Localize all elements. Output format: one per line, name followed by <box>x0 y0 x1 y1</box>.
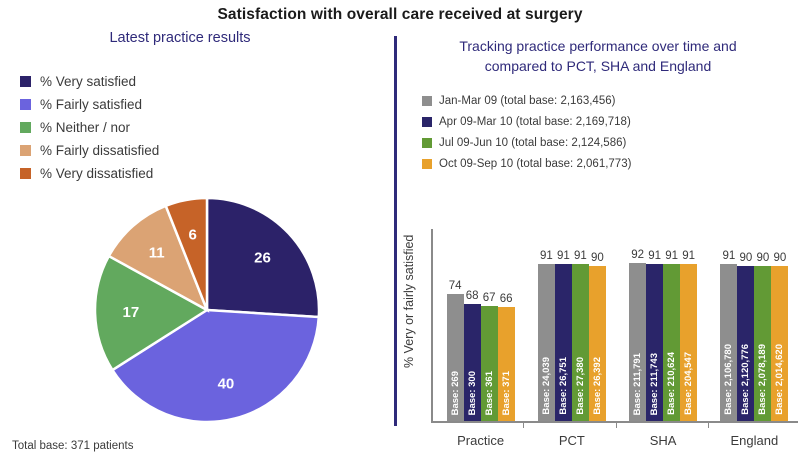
category-label: PCT <box>526 433 617 448</box>
bar-base-label: Base: 2,106,780 <box>723 344 734 415</box>
legend-swatch-icon <box>20 99 31 110</box>
bar-base-label: Base: 210,624 <box>666 352 677 415</box>
bar-column: Base: 204,54791 <box>680 201 697 421</box>
bar: Base: 300 <box>464 304 481 421</box>
bar-legend-item: Oct 09-Sep 10 (total base: 2,061,773) <box>422 153 631 174</box>
bar-base-label: Base: 204,547 <box>683 352 694 415</box>
bar-base-label: Base: 269 <box>450 371 461 415</box>
bar-base-label: Base: 27,380 <box>575 357 586 415</box>
slide-root: Satisfaction with overall care received … <box>0 0 800 436</box>
bar-value-label: 91 <box>663 250 680 262</box>
bar: Base: 371 <box>498 307 515 421</box>
bar-chart-ylabel: % Very or fairly satisfied <box>402 201 424 401</box>
bar-chart-plot: Base: 26974Base: 30068Base: 36167Base: 3… <box>431 201 800 423</box>
pie-legend-item: % Very satisfied <box>20 70 159 93</box>
bar-column: Base: 30068 <box>464 201 481 421</box>
bar-base-label: Base: 211,791 <box>632 353 643 415</box>
legend-swatch-icon <box>422 117 432 127</box>
bar: Base: 204,547 <box>680 264 697 421</box>
bar-column: Base: 2,106,78091 <box>720 201 737 421</box>
legend-swatch-icon <box>422 96 432 106</box>
bar-value-label: 91 <box>720 250 737 262</box>
bar: Base: 27,380 <box>572 264 589 421</box>
bar-legend-item: Apr 09-Mar 10 (total base: 2,169,718) <box>422 111 631 132</box>
right-panel-title: Tracking practice performance over time … <box>408 36 788 76</box>
x-axis-tick <box>616 423 617 428</box>
legend-swatch-icon <box>20 168 31 179</box>
bar-value-label: 92 <box>629 249 646 261</box>
bar-value-label: 90 <box>754 252 771 264</box>
bar-legend-label: Apr 09-Mar 10 (total base: 2,169,718) <box>439 116 631 128</box>
bar-legend-label: Jul 09-Jun 10 (total base: 2,124,586) <box>439 137 626 149</box>
x-axis-tick <box>708 423 709 428</box>
bar: Base: 2,014,620 <box>771 266 788 421</box>
pie-legend-item: % Fairly dissatisfied <box>20 139 159 162</box>
bar-column: Base: 210,62491 <box>663 201 680 421</box>
bar-column: Base: 2,014,62090 <box>771 201 788 421</box>
bar-value-label: 91 <box>680 250 697 262</box>
pie-slice-value: 17 <box>123 304 140 321</box>
pie-slice-value: 11 <box>149 244 165 261</box>
bar: Base: 2,078,189 <box>754 266 771 421</box>
bar-legend-item: Jan-Mar 09 (total base: 2,163,456) <box>422 90 631 111</box>
pie-legend-label: % Neither / nor <box>40 120 130 135</box>
right-panel-title-line2: compared to PCT, SHA and England <box>408 56 788 76</box>
pie-slice-value: 26 <box>254 249 271 266</box>
pie-legend-item: % Fairly satisfied <box>20 93 159 116</box>
pie-legend-label: % Very satisfied <box>40 74 136 89</box>
bar-column: Base: 2,078,18990 <box>754 201 771 421</box>
bar-value-label: 90 <box>589 252 606 264</box>
bar-base-label: Base: 371 <box>501 371 512 415</box>
bar-value-label: 68 <box>464 290 481 302</box>
bar-value-label: 91 <box>646 250 663 262</box>
pie-legend-label: % Fairly satisfied <box>40 97 142 112</box>
bar-base-label: Base: 361 <box>484 371 495 415</box>
bar: Base: 2,106,780 <box>720 264 737 421</box>
right-panel-title-line1: Tracking practice performance over time … <box>408 36 788 56</box>
bar-base-label: Base: 2,014,620 <box>774 344 785 415</box>
x-axis-line <box>431 421 798 423</box>
bar-base-label: Base: 24,039 <box>541 357 552 415</box>
bar: Base: 211,743 <box>646 264 663 421</box>
pie-legend: % Very satisfied% Fairly satisfied% Neit… <box>20 70 159 185</box>
bar-column: Base: 27,38091 <box>572 201 589 421</box>
bar-legend-label: Oct 09-Sep 10 (total base: 2,061,773) <box>439 158 631 170</box>
bar-group: Base: 24,03991Base: 26,75191Base: 27,380… <box>526 201 617 421</box>
category-label: SHA <box>618 433 709 448</box>
bar-legend: Jan-Mar 09 (total base: 2,163,456)Apr 09… <box>422 90 631 174</box>
bar: Base: 2,120,776 <box>737 266 754 421</box>
legend-swatch-icon <box>422 159 432 169</box>
total-base-label: Total base: 371 patients <box>12 440 133 452</box>
bar-legend-item: Jul 09-Jun 10 (total base: 2,124,586) <box>422 132 631 153</box>
bar-base-label: Base: 26,751 <box>558 357 569 415</box>
bar-group-bars: Base: 26974Base: 30068Base: 36167Base: 3… <box>435 201 526 421</box>
bar-value-label: 90 <box>771 252 788 264</box>
bar-base-label: Base: 26,392 <box>592 357 603 415</box>
bar-column: Base: 26,39290 <box>589 201 606 421</box>
pie-chart: 264017116 <box>92 195 322 425</box>
pie-slice-value: 40 <box>218 375 235 392</box>
bar-column: Base: 37166 <box>498 201 515 421</box>
y-axis-line <box>431 229 433 423</box>
bar-groups: Base: 26974Base: 30068Base: 36167Base: 3… <box>435 201 800 421</box>
bar: Base: 211,791 <box>629 263 646 421</box>
bar-value-label: 91 <box>538 250 555 262</box>
bar-base-label: Base: 2,120,776 <box>740 344 751 415</box>
bar: Base: 210,624 <box>663 264 680 421</box>
panel-divider <box>394 36 397 426</box>
left-panel: Latest practice results % Very satisfied… <box>0 30 392 436</box>
bar-group-bars: Base: 211,79192Base: 211,74391Base: 210,… <box>618 201 709 421</box>
x-axis-tick <box>523 423 524 428</box>
bar-column: Base: 211,79192 <box>629 201 646 421</box>
pie-chart-svg: 264017116 <box>92 195 322 425</box>
bar-value-label: 67 <box>481 292 498 304</box>
left-panel-title: Latest practice results <box>10 30 350 46</box>
pie-legend-label: % Very dissatisfied <box>40 166 153 181</box>
bar-group: Base: 26974Base: 30068Base: 36167Base: 3… <box>435 201 526 421</box>
right-panel: Tracking practice performance over time … <box>404 36 800 436</box>
bar-legend-label: Jan-Mar 09 (total base: 2,163,456) <box>439 95 615 107</box>
bar-value-label: 90 <box>737 252 754 264</box>
pie-slice-value: 6 <box>189 227 197 244</box>
page-title: Satisfaction with overall care received … <box>0 6 800 24</box>
bar: Base: 361 <box>481 306 498 421</box>
bar-value-label: 66 <box>498 293 515 305</box>
bar-group: Base: 2,106,78091Base: 2,120,77690Base: … <box>709 201 800 421</box>
legend-swatch-icon <box>20 145 31 156</box>
pie-legend-item: % Neither / nor <box>20 116 159 139</box>
bar-column: Base: 36167 <box>481 201 498 421</box>
bar-base-label: Base: 211,743 <box>649 353 660 415</box>
bar: Base: 269 <box>447 294 464 421</box>
category-label: England <box>709 433 800 448</box>
pie-legend-label: % Fairly dissatisfied <box>40 143 159 158</box>
legend-swatch-icon <box>20 76 31 87</box>
legend-swatch-icon <box>20 122 31 133</box>
bar-column: Base: 211,74391 <box>646 201 663 421</box>
bar-group: Base: 211,79192Base: 211,74391Base: 210,… <box>618 201 709 421</box>
bar-value-label: 91 <box>555 250 572 262</box>
bar-base-label: Base: 300 <box>467 371 478 415</box>
bar: Base: 24,039 <box>538 264 555 421</box>
bar-chart: % Very or fairly satisfied Base: 26974Ba… <box>404 201 800 463</box>
pie-legend-item: % Very dissatisfied <box>20 162 159 185</box>
bar: Base: 26,751 <box>555 264 572 421</box>
bar-column: Base: 26,75191 <box>555 201 572 421</box>
bar: Base: 26,392 <box>589 266 606 421</box>
category-label: Practice <box>435 433 526 448</box>
bar-base-label: Base: 2,078,189 <box>757 344 768 415</box>
bar-value-label: 91 <box>572 250 589 262</box>
bar-group-bars: Base: 24,03991Base: 26,75191Base: 27,380… <box>526 201 617 421</box>
bar-group-bars: Base: 2,106,78091Base: 2,120,77690Base: … <box>709 201 800 421</box>
bar-column: Base: 2,120,77690 <box>737 201 754 421</box>
bar-column: Base: 24,03991 <box>538 201 555 421</box>
legend-swatch-icon <box>422 138 432 148</box>
category-labels: PracticePCTSHAEngland <box>435 433 800 448</box>
bar-value-label: 74 <box>447 280 464 292</box>
bar-column: Base: 26974 <box>447 201 464 421</box>
